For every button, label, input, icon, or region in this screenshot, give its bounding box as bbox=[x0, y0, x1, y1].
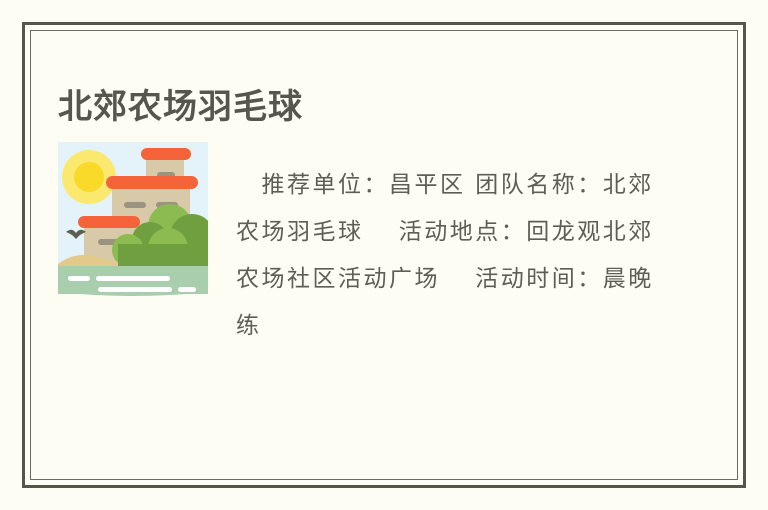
activity-details-text: 推荐单位：昌平区 团队名称：北郊农场羽毛球 活动地点：回龙观北郊农场社区活动广场… bbox=[236, 162, 654, 350]
card-content: 北郊农场羽毛球 bbox=[30, 30, 738, 480]
page-title: 北郊农场羽毛球 bbox=[58, 85, 303, 129]
farm-village-illustration-svg bbox=[58, 140, 208, 298]
page-root: 北郊农场羽毛球 bbox=[0, 0, 768, 510]
farm-village-illustration bbox=[58, 140, 208, 298]
